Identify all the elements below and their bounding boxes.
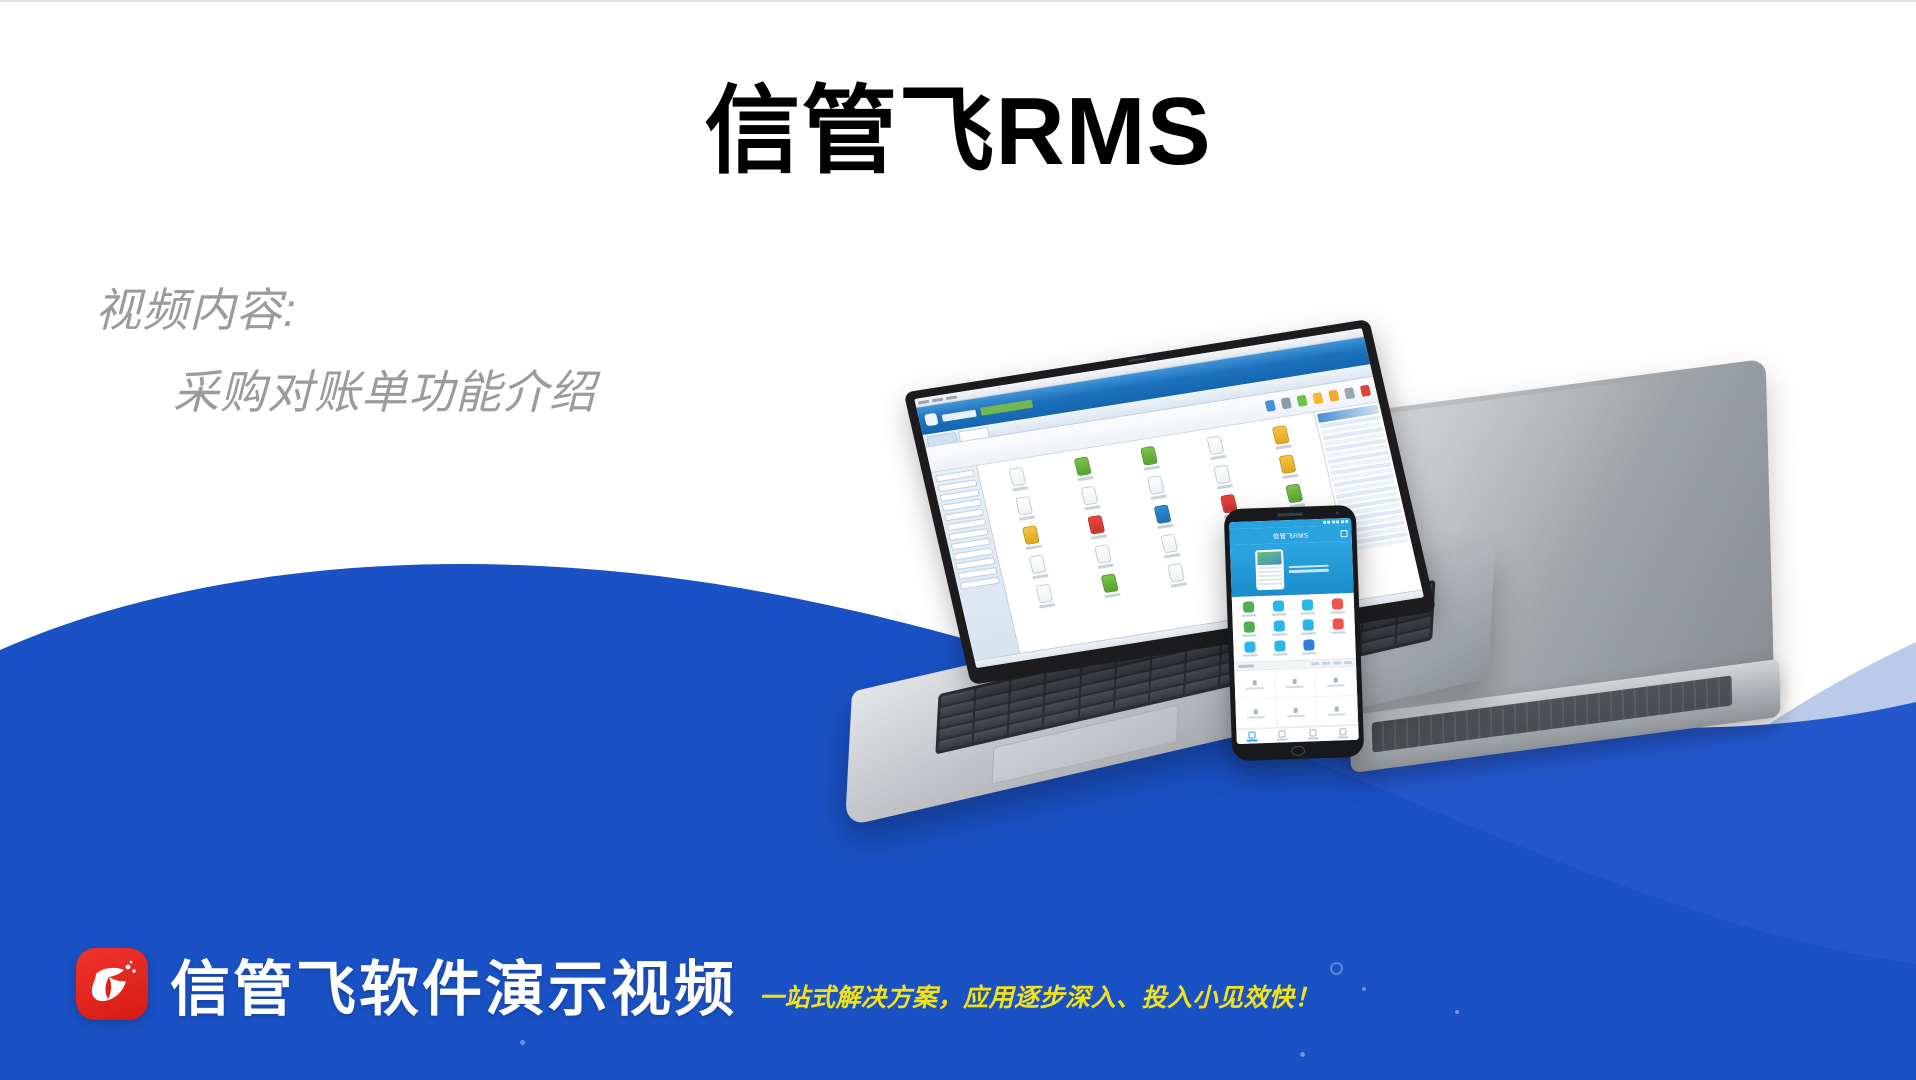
hero-line — [1258, 582, 1282, 585]
app-icon-glyph — [1154, 504, 1172, 524]
phone-stat-cell[interactable] — [1234, 670, 1276, 700]
section-filters[interactable] — [1311, 661, 1352, 665]
desktop-app-icon[interactable] — [1011, 580, 1079, 612]
phone-nav-icon — [1248, 731, 1255, 738]
app-icon-glyph — [1022, 525, 1040, 545]
app-icon-label — [1091, 534, 1108, 539]
slide-canvas: 信管飞RMS 视频内容: 采购对账单功能介绍 — [0, 0, 1916, 1080]
phone-app-title: 信管飞RMS — [1273, 529, 1309, 540]
desktop-app-icon[interactable] — [1116, 442, 1184, 474]
subtitle-block: 视频内容: 采购对账单功能介绍 — [95, 287, 596, 415]
phone-icon-label — [1272, 633, 1287, 636]
phone-nav-label — [1338, 736, 1349, 738]
menu-item — [918, 399, 930, 404]
phone-stat-cell[interactable] — [1276, 697, 1318, 727]
app-icon-label — [1150, 495, 1167, 500]
phone-icon-glyph — [1245, 641, 1256, 652]
phone-screen: 信管飞RMS — [1229, 518, 1359, 744]
stat-value — [1252, 680, 1256, 685]
phone-icon-glyph — [1303, 619, 1314, 630]
print-icon[interactable] — [1265, 400, 1276, 412]
app-icon-glyph — [1272, 425, 1290, 445]
hero-line — [1257, 566, 1281, 569]
phone-app-icon[interactable] — [1235, 601, 1263, 617]
phone-app-icon[interactable] — [1295, 639, 1323, 655]
app-icon-glyph — [1279, 454, 1297, 474]
desktop-app-icon[interactable] — [997, 521, 1065, 553]
brand-title: 信管飞软件演示视频 — [170, 960, 737, 1020]
phone-nav-icon — [1309, 729, 1316, 736]
stat-value — [1294, 707, 1298, 712]
hamburger-menu-icon[interactable] — [1340, 530, 1347, 537]
filter-option[interactable] — [1322, 662, 1330, 665]
phone-stats-grid — [1234, 667, 1358, 729]
section-title — [1238, 665, 1254, 668]
app-icon-label — [1171, 582, 1188, 587]
phone-stat-cell[interactable] — [1317, 696, 1359, 726]
phone-icon-glyph — [1274, 640, 1285, 651]
hero-line — [1258, 578, 1282, 581]
desktop-app-icon[interactable] — [1143, 559, 1211, 591]
phone-stat-cell[interactable] — [1316, 667, 1358, 697]
phone-icon-label — [1331, 631, 1346, 634]
app-icon-label — [1275, 444, 1292, 449]
app-icon-label — [1216, 484, 1233, 489]
app-icon-label — [1032, 574, 1049, 579]
desktop-app-icon[interactable] — [1050, 453, 1118, 485]
subtitle-label: 视频内容: — [95, 287, 596, 333]
phone-hero-banner — [1230, 541, 1354, 597]
phone-nav-item[interactable] — [1236, 729, 1267, 744]
phone-app-icon[interactable] — [1324, 618, 1352, 634]
phone-icon-label — [1242, 634, 1257, 637]
app-icon-glyph — [1167, 563, 1185, 583]
phone-app-icon[interactable] — [1323, 598, 1351, 614]
phone-icon-label — [1301, 612, 1316, 615]
app-icon-label — [1157, 524, 1174, 529]
app-icon-label — [1025, 545, 1042, 550]
page-title: 信管飞RMS — [0, 80, 1916, 184]
exit-icon[interactable] — [1360, 385, 1371, 397]
app-icon-glyph — [1160, 534, 1178, 554]
phone-icon-glyph — [1332, 618, 1343, 629]
phone-app-icon[interactable] — [1295, 619, 1323, 635]
menu-item — [932, 397, 944, 402]
phone-bottom-nav — [1236, 725, 1358, 744]
filter-option[interactable] — [1311, 662, 1319, 665]
desktop-app-icon[interactable] — [1188, 461, 1256, 493]
hero-caption-line — [1288, 569, 1328, 573]
app-icon-label — [1084, 505, 1101, 510]
app-icon-glyph — [1213, 465, 1231, 485]
app-icon-label — [1282, 474, 1299, 479]
export-icon[interactable] — [1281, 397, 1292, 409]
phone-app-icon[interactable] — [1236, 621, 1264, 637]
stat-value — [1293, 678, 1297, 683]
phone-stat-cell[interactable] — [1275, 668, 1317, 698]
stat-value — [1334, 677, 1338, 682]
stat-label — [1247, 716, 1265, 719]
app-header-promo — [980, 400, 1033, 416]
phone-icon-glyph — [1244, 621, 1255, 632]
key-icon[interactable] — [1328, 390, 1339, 402]
subtitle-topic: 采购对账单功能介绍 — [173, 369, 596, 415]
desktop-app-icon[interactable] — [984, 463, 1052, 495]
phone-nav-icon — [1340, 728, 1347, 735]
app-icon-label — [1078, 476, 1095, 481]
desktop-app-icon[interactable] — [990, 492, 1058, 524]
phone-icon-label — [1330, 611, 1345, 614]
phone-nav-label — [1307, 737, 1318, 739]
phone-nav-label — [1246, 740, 1257, 742]
stat-label — [1287, 714, 1305, 717]
phone-app-icon[interactable] — [1264, 600, 1292, 616]
phone-icon-glyph — [1273, 620, 1284, 631]
footer-content: 信管飞软件演示视频 一站式解决方案，应用逐步深入、投入小见效快！ — [76, 948, 1320, 1020]
desktop-app-icon[interactable] — [1070, 540, 1138, 572]
app-icon-glyph — [1035, 584, 1053, 604]
laptop-webcam — [1128, 357, 1146, 362]
hero-caption-line — [1288, 564, 1328, 568]
filter-option[interactable] — [1333, 662, 1341, 665]
app-icon-glyph — [1147, 475, 1165, 495]
hero-line — [1257, 570, 1281, 573]
desktop-app-icon[interactable] — [1004, 551, 1072, 583]
app-icon-glyph — [1140, 446, 1158, 466]
desktop-app-icon[interactable] — [1136, 530, 1204, 562]
smartphone-device: 信管飞RMS — [1224, 505, 1365, 761]
app-icon-glyph — [1206, 436, 1224, 456]
app-icon-glyph — [1028, 555, 1046, 575]
phone-icon-label — [1243, 654, 1258, 657]
desktop-app-icon[interactable] — [1129, 501, 1197, 533]
phone-icon-glyph — [1302, 599, 1313, 610]
phone-icon-label — [1301, 632, 1316, 635]
menu-item — [946, 395, 958, 400]
status-icon — [1336, 520, 1339, 523]
app-icon-label — [1210, 455, 1227, 460]
stat-value — [1335, 706, 1339, 711]
phone-nav-item[interactable] — [1328, 726, 1359, 741]
app-icon-label — [1164, 553, 1181, 558]
phone-icon-glyph — [1243, 601, 1254, 612]
phone-nav-item[interactable] — [1297, 727, 1328, 742]
status-icon — [1323, 521, 1326, 524]
app-icon-label — [1039, 603, 1056, 608]
app-logo-icon — [924, 413, 939, 427]
desktop-app-icon[interactable] — [1254, 450, 1322, 482]
hero-line — [1257, 574, 1281, 577]
desktop-app-icon[interactable] — [1077, 569, 1145, 601]
phone-app-icon[interactable] — [1236, 641, 1264, 657]
app-logo-wordmark — [941, 409, 976, 421]
phone-app-icon[interactable] — [1294, 599, 1322, 615]
stat-label — [1327, 684, 1345, 687]
app-icon-label — [1012, 486, 1029, 491]
phone-front-camera-icon — [1336, 511, 1339, 514]
phone-nav-label — [1277, 739, 1288, 741]
status-icon — [1327, 521, 1330, 524]
status-icon — [1341, 520, 1344, 523]
bird-logo-icon — [76, 948, 148, 1020]
brand-tagline: 一站式解决方案，应用逐步深入、投入小见效快！ — [759, 978, 1320, 1020]
desktop-app-icon[interactable] — [1122, 471, 1190, 503]
app-icon-glyph — [1081, 486, 1099, 506]
stat-value — [1253, 709, 1257, 714]
desktop-app-icon[interactable] — [1063, 511, 1131, 543]
phone-icon-glyph — [1303, 639, 1314, 650]
stat-label — [1328, 713, 1346, 716]
phone-icon-label — [1302, 652, 1317, 655]
stat-label — [1286, 685, 1304, 688]
app-icon-label — [1098, 563, 1115, 568]
phone-nav-icon — [1279, 730, 1286, 737]
phone-icon-grid — [1232, 593, 1356, 662]
app-icon-label — [1144, 465, 1161, 470]
laptop-device — [880, 352, 1520, 832]
desktop-app-icon[interactable] — [1056, 482, 1124, 514]
app-icon-glyph — [1015, 496, 1033, 516]
hero-caption — [1288, 564, 1328, 572]
app-icon-glyph — [1008, 467, 1026, 487]
phone-icon-label — [1272, 653, 1287, 656]
phone-home-button[interactable] — [1291, 746, 1305, 756]
app-icon-glyph — [1088, 515, 1106, 535]
phone-app-icon[interactable] — [1265, 620, 1293, 636]
desktop-app-icon[interactable] — [1182, 432, 1250, 464]
stat-label — [1246, 687, 1264, 690]
phone-icon-label — [1242, 614, 1257, 617]
phone-icon-label — [1271, 613, 1286, 616]
app-icon-label — [1018, 515, 1035, 520]
status-icon — [1332, 521, 1335, 524]
phone-nav-item[interactable] — [1267, 728, 1298, 743]
device-mockup-group: 信管飞RMS — [880, 387, 1916, 947]
app-icon-glyph — [1101, 573, 1119, 593]
phone-stat-cell[interactable] — [1235, 699, 1277, 729]
app-icon-label — [1105, 593, 1122, 598]
help-icon[interactable] — [1344, 387, 1355, 399]
status-icon — [1345, 520, 1348, 523]
filter-icon[interactable] — [1296, 395, 1307, 407]
filter-option[interactable] — [1344, 661, 1352, 664]
phone-earpiece — [1277, 513, 1303, 517]
phone-app-icon[interactable] — [1266, 640, 1294, 656]
hero-phone-illustration — [1255, 549, 1284, 590]
hero-image — [1257, 551, 1281, 565]
desktop-app-icon[interactable] — [1247, 421, 1315, 453]
app-icon-glyph — [1074, 456, 1092, 476]
phone-icon-glyph — [1332, 598, 1343, 609]
app-icon-glyph — [1094, 544, 1112, 564]
footer-banner: 信管飞软件演示视频 一站式解决方案，应用逐步深入、投入小见效快！ — [0, 930, 1916, 1080]
phone-icon-glyph — [1273, 600, 1284, 611]
app-icon-glyph — [1285, 484, 1303, 504]
user-icon[interactable] — [1312, 392, 1323, 404]
